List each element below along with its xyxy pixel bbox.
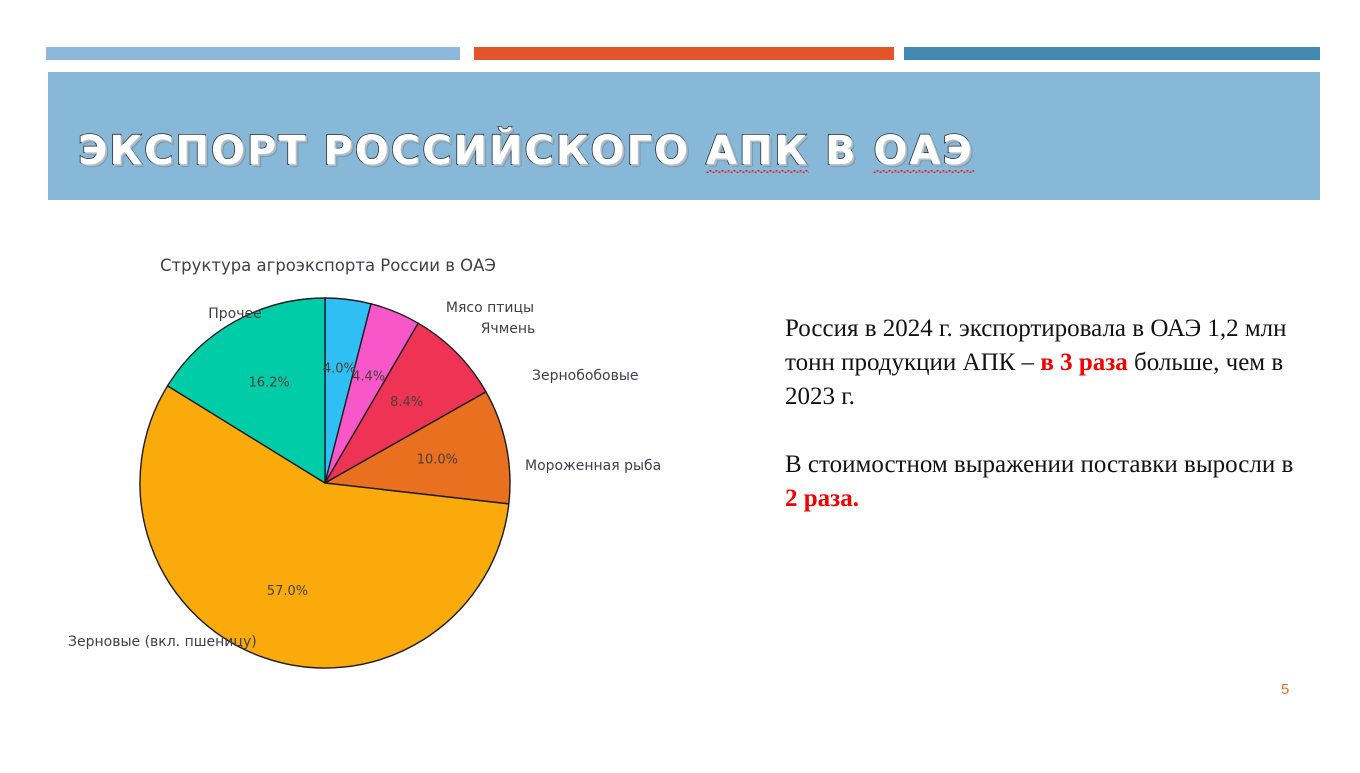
pie-chart: Структура агроэкспорта России в ОАЭ 4.0%… bbox=[60, 240, 760, 670]
pie-slice-category-label: Зерновые (вкл. пшеницу) bbox=[68, 634, 257, 650]
summary-paragraph-2: В стоимостном выражении поставки выросли… bbox=[785, 448, 1305, 516]
pie-slice-category-label: Мясо птицы bbox=[446, 300, 534, 316]
page-title-segment-3: ОАЭ bbox=[873, 128, 973, 174]
pie-slice-percent-label: 8.4% bbox=[390, 395, 423, 410]
summary-paragraph-1-run-1: в 3 раза bbox=[1040, 349, 1127, 376]
summary-text-block: Россия в 2024 г. экспортировала в ОАЭ 1,… bbox=[785, 312, 1305, 516]
summary-paragraph-2-run-0: В стоимостном выражении поставки выросли… bbox=[785, 451, 1293, 478]
pie-slice-category-label: Зернобобовые bbox=[532, 368, 639, 384]
pie-slice-percent-label: 10.0% bbox=[417, 453, 458, 468]
pie-slice-category-label: Мороженная рыба bbox=[525, 458, 661, 474]
page-title-segment-1: АПК bbox=[706, 128, 809, 174]
pie-slice-percent-label: 4.4% bbox=[352, 369, 385, 384]
decor-bar-left bbox=[46, 47, 460, 60]
summary-paragraph-2-run-1: 2 раза. bbox=[785, 485, 859, 512]
pie-slice-category-label: Прочее bbox=[208, 306, 261, 322]
paragraph-spacer bbox=[785, 414, 1305, 448]
pie-slice-category-label: Ячмень bbox=[481, 321, 536, 337]
page-title: ЭКСПОРТ РОССИЙСКОГО АПК В ОАЭ bbox=[78, 131, 974, 171]
slide-canvas: ЭКСПОРТ РОССИЙСКОГО АПК В ОАЭ Структура … bbox=[0, 0, 1360, 773]
pie-slice-group bbox=[140, 298, 510, 668]
page-number: 5 bbox=[1281, 681, 1289, 698]
page-title-segment-2: В bbox=[809, 128, 873, 174]
pie-chart-svg: 4.0%4.4%8.4%10.0%57.0%16.2% Мясо птицыЯч… bbox=[60, 240, 760, 670]
decor-bar-middle bbox=[474, 47, 894, 60]
summary-paragraph-1: Россия в 2024 г. экспортировала в ОАЭ 1,… bbox=[785, 312, 1305, 414]
pie-slice-percent-label: 4.0% bbox=[323, 362, 356, 377]
pie-slice-percent-label: 16.2% bbox=[248, 375, 289, 390]
page-title-segment-0: ЭКСПОРТ РОССИЙСКОГО bbox=[78, 128, 706, 174]
pie-slice-percent-label: 57.0% bbox=[267, 584, 308, 599]
decor-bar-right bbox=[904, 47, 1320, 60]
